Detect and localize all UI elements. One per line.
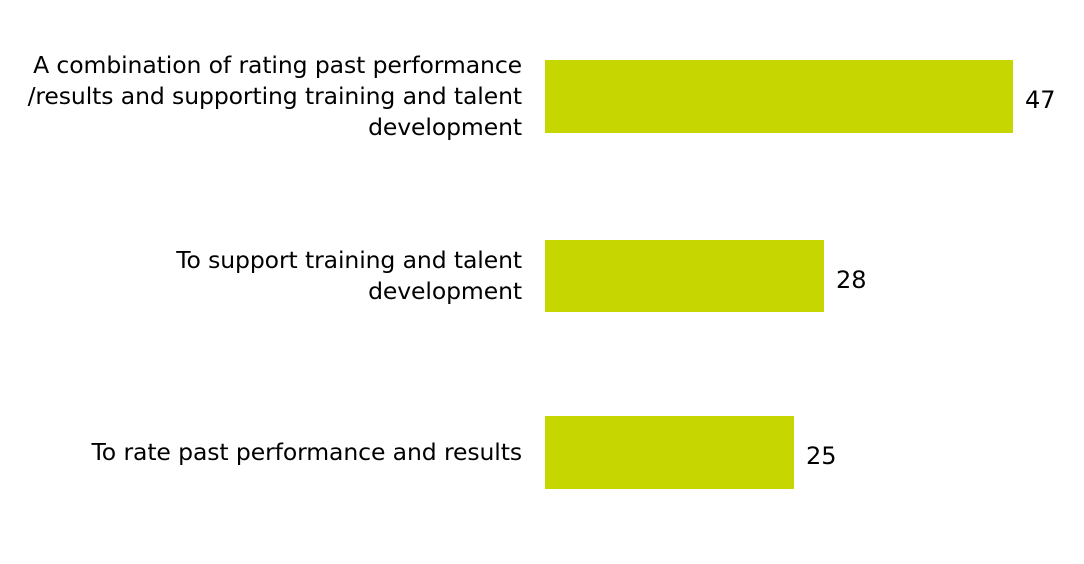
category-label: To support training and talent developme… xyxy=(2,245,522,307)
bar-value-label: 47 xyxy=(1025,88,1056,112)
bar-segment xyxy=(545,240,824,312)
category-label: A combination of rating past performance… xyxy=(2,50,522,143)
bar-segment xyxy=(545,60,1013,133)
category-label: To rate past performance and results xyxy=(2,437,522,468)
plot-area: A combination of rating past performance… xyxy=(0,0,1084,564)
bar-value-label: 28 xyxy=(836,268,867,292)
bar-value-label: 25 xyxy=(806,444,837,468)
bar-chart: A combination of rating past performance… xyxy=(0,0,1084,564)
bar-segment xyxy=(545,416,794,489)
